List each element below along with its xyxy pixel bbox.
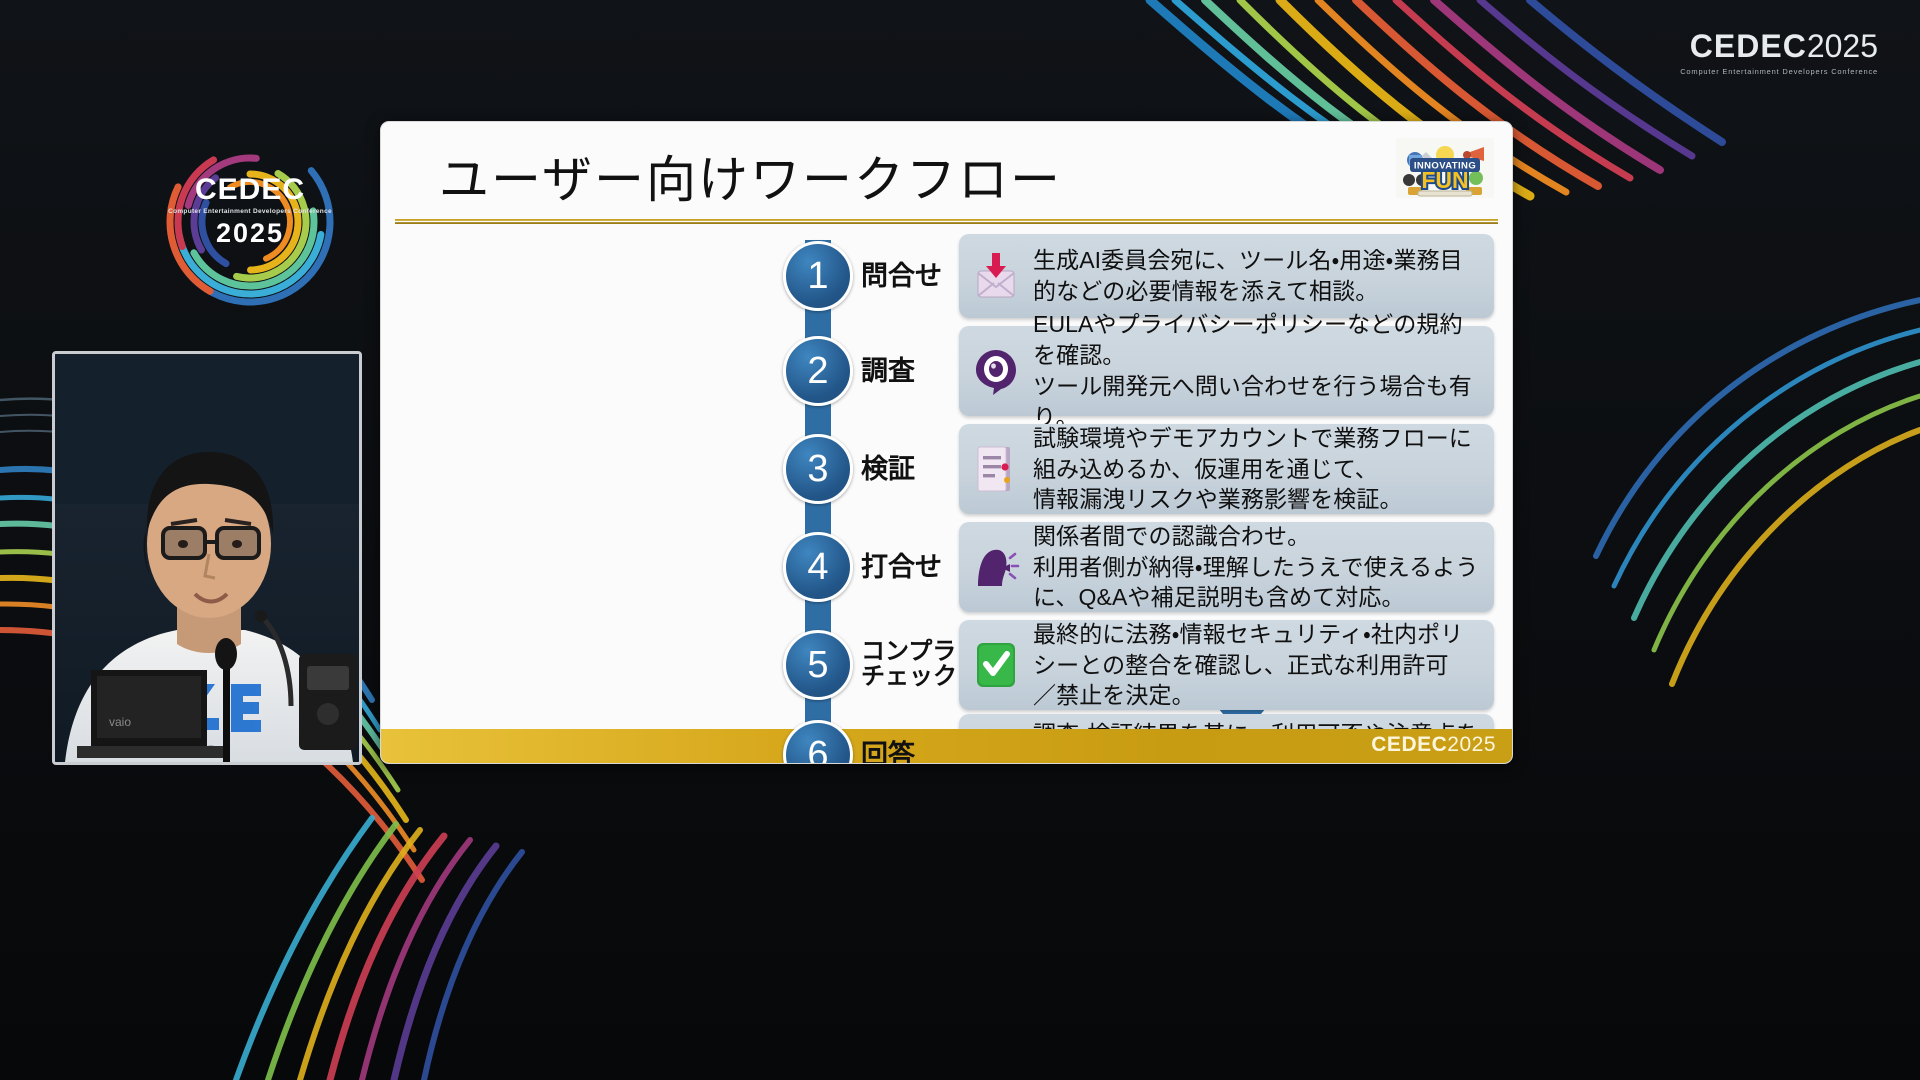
cedec-ring-logo: CEDEC Computer Entertainment Developers … bbox=[150, 130, 350, 320]
cedec-ring-main: CEDEC bbox=[150, 174, 350, 206]
step-text-2: EULAやプライバシーポリシーなどの規約を確認。 ツール開発元へ問い合わせを行う… bbox=[1033, 309, 1494, 432]
presentation-slide: ユーザー向けワークフロー INNOVATING FUN bbox=[380, 121, 1513, 764]
step-number-4: 4 bbox=[783, 532, 853, 602]
search-eye-icon bbox=[959, 346, 1033, 396]
step-number-2: 2 bbox=[783, 336, 853, 406]
cedec-ring-subtitle: Computer Entertainment Developers Confer… bbox=[150, 209, 350, 216]
step-label-6: 回答 bbox=[861, 741, 961, 764]
step-card-4[interactable]: 関係者間での認識合わせ。 利用者側が納得・理解したうえで使えるように、Q&Aや補… bbox=[959, 522, 1494, 612]
step-label-5: コンプラ チェック bbox=[861, 640, 961, 690]
green-check-icon bbox=[959, 639, 1033, 691]
slide-footer-wordmark: CEDEC2025 bbox=[1371, 733, 1496, 757]
step-label-3: 検証 bbox=[861, 455, 961, 483]
workflow-row-5: 5 コンプラ チェック 最終的に法務・情報セキュリティ・社内ポリシーとの整合を確… bbox=[381, 616, 1512, 714]
workflow-row-4: 4 打合せ 関係者間での認識合わせ。 利用者側が納得・理解したうえで使えるように… bbox=[381, 518, 1512, 616]
innovating-fun-main-label: FUN bbox=[1421, 167, 1468, 193]
step-label-2: 調査 bbox=[861, 357, 961, 385]
speaker-video-thumbnail[interactable]: AZE vaio bbox=[52, 351, 362, 765]
step-text-4: 関係者間での認識合わせ。 利用者側が納得・理解したうえで使えるように、Q&Aや補… bbox=[1033, 521, 1494, 613]
step-text-1: 生成AI委員会宛に、ツール名・用途・業務目的などの必要情報を添えて相談。 bbox=[1033, 245, 1494, 307]
step-card-1[interactable]: 生成AI委員会宛に、ツール名・用途・業務目的などの必要情報を添えて相談。 bbox=[959, 234, 1494, 318]
cedec-top-tagline: Computer Entertainment Developers Confer… bbox=[1680, 67, 1878, 76]
slide-footer-year: 2025 bbox=[1447, 733, 1496, 756]
cedec-ring-year: 2025 bbox=[150, 219, 350, 247]
mail-download-icon bbox=[959, 251, 1033, 301]
speaking-head-icon bbox=[959, 542, 1033, 592]
step-number-6: 6 bbox=[783, 720, 853, 764]
innovating-fun-badge: INNOVATING FUN FUN bbox=[1396, 138, 1494, 198]
step-number-3: 3 bbox=[783, 434, 853, 504]
step-label-5-line-2: チェック bbox=[861, 665, 961, 690]
workflow-row-1: 1 問合せ 生成AI委員会宛に、ツール名・用途・業務目的などの必要情報を添えて相… bbox=[381, 230, 1512, 322]
step-label-5-line-1: コンプラ bbox=[861, 640, 961, 665]
step-label-4: 打合せ bbox=[861, 553, 961, 581]
slide-title: ユーザー向けワークフロー bbox=[439, 140, 1062, 212]
cedec-top-wordmark: CEDEC2025 Computer Entertainment Develop… bbox=[1680, 28, 1878, 76]
svg-text:vaio: vaio bbox=[109, 715, 131, 729]
slide-footer-name: CEDEC bbox=[1371, 733, 1447, 756]
cedec-top-year: 2025 bbox=[1807, 28, 1878, 64]
step-card-2[interactable]: EULAやプライバシーポリシーなどの規約を確認。 ツール開発元へ問い合わせを行う… bbox=[959, 326, 1494, 416]
cedec-top-name: CEDEC bbox=[1690, 28, 1807, 64]
title-divider-rule bbox=[395, 219, 1498, 224]
step-label-1: 問合せ bbox=[861, 262, 961, 290]
workflow-row-2: 2 調査 EULAやプライバシーポリシーなどの規約を確認。 ツール開発元へ問い合… bbox=[381, 322, 1512, 420]
cedec-ring-text: CEDEC Computer Entertainment Developers … bbox=[150, 174, 350, 248]
step-card-5[interactable]: 最終的に法務・情報セキュリティ・社内ポリシーとの整合を確認し、正式な利用許可 ／… bbox=[959, 620, 1494, 710]
step-text-3: 試験環境やデモアカウントで業務フローに組み込めるか、仮運用を通じて、 情報漏洩リ… bbox=[1033, 423, 1494, 515]
document-icon bbox=[959, 443, 1033, 495]
workflow-diagram: 1 問合せ 生成AI委員会宛に、ツール名・用途・業務目的などの必要情報を添えて相… bbox=[381, 230, 1512, 729]
workflow-row-3: 3 検証 試験環境やデモアカウントで業務フローに組み込めるか、仮運用を通じて、 … bbox=[381, 420, 1512, 518]
step-card-3[interactable]: 試験環境やデモアカウントで業務フローに組み込めるか、仮運用を通じて、 情報漏洩リ… bbox=[959, 424, 1494, 514]
step-number-1: 1 bbox=[783, 241, 853, 311]
step-text-5: 最終的に法務・情報セキュリティ・社内ポリシーとの整合を確認し、正式な利用許可 ／… bbox=[1033, 619, 1494, 711]
step-number-5: 5 bbox=[783, 630, 853, 700]
